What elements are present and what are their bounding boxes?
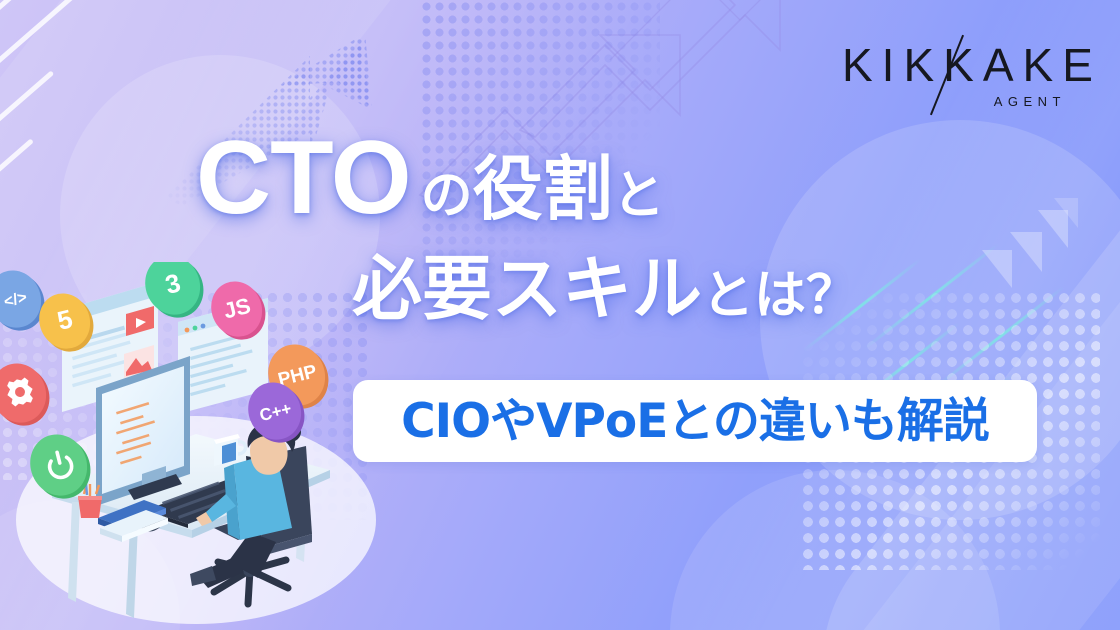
headline-particle-no: の <box>421 170 473 222</box>
gear-badge <box>0 355 58 434</box>
logo-wordmark: KIKKAKE <box>842 42 1102 88</box>
headline-suffix-to: と <box>613 170 665 222</box>
kikkake-agent-logo[interactable]: KIKKAKE AGENT <box>836 36 1088 120</box>
developer-at-desk-illustration: </> 5 3 JS P <box>0 262 380 630</box>
headline-word-hitsuyou-skill: 必要スキル <box>352 254 702 324</box>
subtitle-text: CIOやVPoEとの違いも解説 <box>401 398 989 445</box>
article-thumbnail-banner: KIKKAKE AGENT CTO の 役割 と 必要スキル とは？ CIOやV… <box>0 0 1120 630</box>
logo-tagline: AGENT <box>994 94 1066 109</box>
headline-line-1: CTO の 役割 と <box>0 126 1050 234</box>
headline-word-yakuwari: 役割 <box>473 154 613 224</box>
headline-emphasis-cto: CTO <box>196 126 411 230</box>
subtitle-pill: CIOやVPoEとの違いも解説 <box>353 380 1037 462</box>
headline-suffix-towa: とは？ <box>702 270 858 322</box>
decorative-circle-bottom-right <box>670 470 1000 630</box>
